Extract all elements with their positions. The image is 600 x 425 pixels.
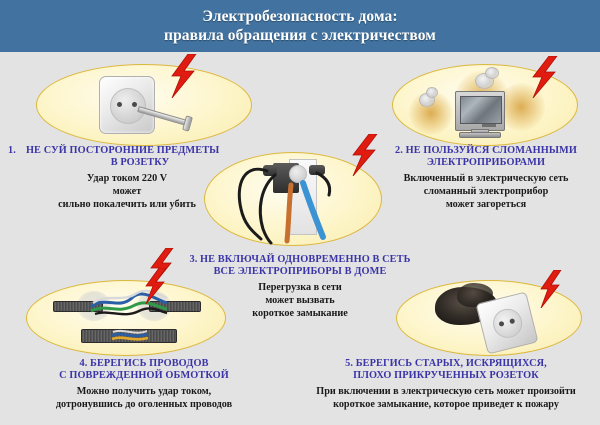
exposed-wire-strands-bottom-icon — [111, 327, 149, 343]
rule-2-heading-line-1: 2. НЕ ПОЛЬЗУЙСЯ СЛОМАННЫМИ — [372, 145, 600, 157]
television-controls-icon — [482, 124, 496, 127]
nail-head-icon — [182, 115, 193, 131]
socket-plate-5-icon — [475, 291, 538, 354]
rule-2-body-line-1: Включенный в электрическую сеть — [372, 172, 600, 185]
rule-2-body-line-3: может загореться — [372, 198, 600, 211]
socket-pin-left-icon — [117, 102, 122, 107]
illustration-oval-4 — [26, 280, 226, 356]
lightning-bolt-icon — [538, 270, 562, 308]
lightning-bolt-icon — [143, 268, 167, 304]
smoke-puff-top-2-icon — [485, 67, 499, 79]
television-stand-base-icon — [459, 132, 501, 138]
rule-4-text-block: 4. БЕРЕГИСЬ ПРОВОДОВ С ПОВРЕЖДЕННОЙ ОБМО… — [0, 358, 288, 411]
socket-face-5-icon — [490, 306, 525, 341]
socket-pin-5-right-icon — [509, 318, 515, 324]
rule-2-heading-line-2: ЭЛЕКТРОПРИБОРАМИ — [372, 157, 600, 169]
rule-3-heading-line-1: 3. НЕ ВКЛЮЧАЙ ОДНОВРЕМЕННО В СЕТЬ — [155, 254, 445, 266]
rule-5-body-line-2: короткое замыкание, которое приведет к п… — [292, 398, 600, 411]
lightning-bolt-icon — [530, 56, 558, 98]
television-screen-icon — [460, 96, 502, 124]
rule-3-heading-line-2: ВСЕ ЭЛЕКТРОПРИБОРЫ В ДОМЕ — [155, 266, 445, 278]
rule-1-heading-line-1: НЕ СУЙ ПОСТОРОННИЕ ПРЕДМЕТЫ — [26, 145, 219, 157]
poster-title-line-1: Электробезопасность дома: — [202, 7, 397, 26]
lightning-bolt-icon — [350, 134, 378, 176]
rule-5-body-line-1: При включении в электрическую сеть может… — [292, 385, 600, 398]
infographic-poster: Электробезопасность дома: правила обраще… — [0, 0, 600, 425]
rule-4-body-line-2: дотронувшись до оголенных проводов — [0, 398, 288, 411]
lightning-bolt-icon — [168, 54, 198, 98]
socket-pin-5-left-icon — [499, 321, 505, 327]
rule-1-number: 1. — [8, 145, 16, 157]
television-body-icon — [455, 91, 505, 131]
illustration-oval-1 — [36, 64, 252, 146]
poster-header: Электробезопасность дома: правила обраще… — [0, 0, 600, 52]
rule-2-body-line-2: сломанный электроприбор — [372, 185, 600, 198]
rule-5-text-block: 5. БЕРЕГИСЬ СТАРЫХ, ИСКРЯЩИХСЯ, ПЛОХО ПР… — [292, 358, 600, 411]
poster-title-line-2: правила обращения с электричеством — [164, 26, 436, 45]
smoke-puff-left-2-icon — [426, 87, 438, 98]
rule-4-heading-line-2: С ПОВРЕЖДЕННОЙ ОБМОТКОЙ — [0, 370, 288, 382]
socket-pin-right-icon — [132, 102, 137, 107]
wall-socket-plate-icon — [99, 76, 155, 134]
rule-4-body-line-1: Можно получить удар током, — [0, 385, 288, 398]
rule-4-heading-line-1: 4. БЕРЕГИСЬ ПРОВОДОВ — [0, 358, 288, 370]
rule-5-heading-line-2: ПЛОХО ПРИКРУЧЕННЫХ РОЗЕТОК — [292, 370, 600, 382]
rule-5-heading-line-1: 5. БЕРЕГИСЬ СТАРЫХ, ИСКРЯЩИХСЯ, — [292, 358, 600, 370]
rule-2-text-block: 2. НЕ ПОЛЬЗУЙСЯ СЛОМАННЫМИ ЭЛЕКТРОПРИБОР… — [372, 145, 600, 211]
